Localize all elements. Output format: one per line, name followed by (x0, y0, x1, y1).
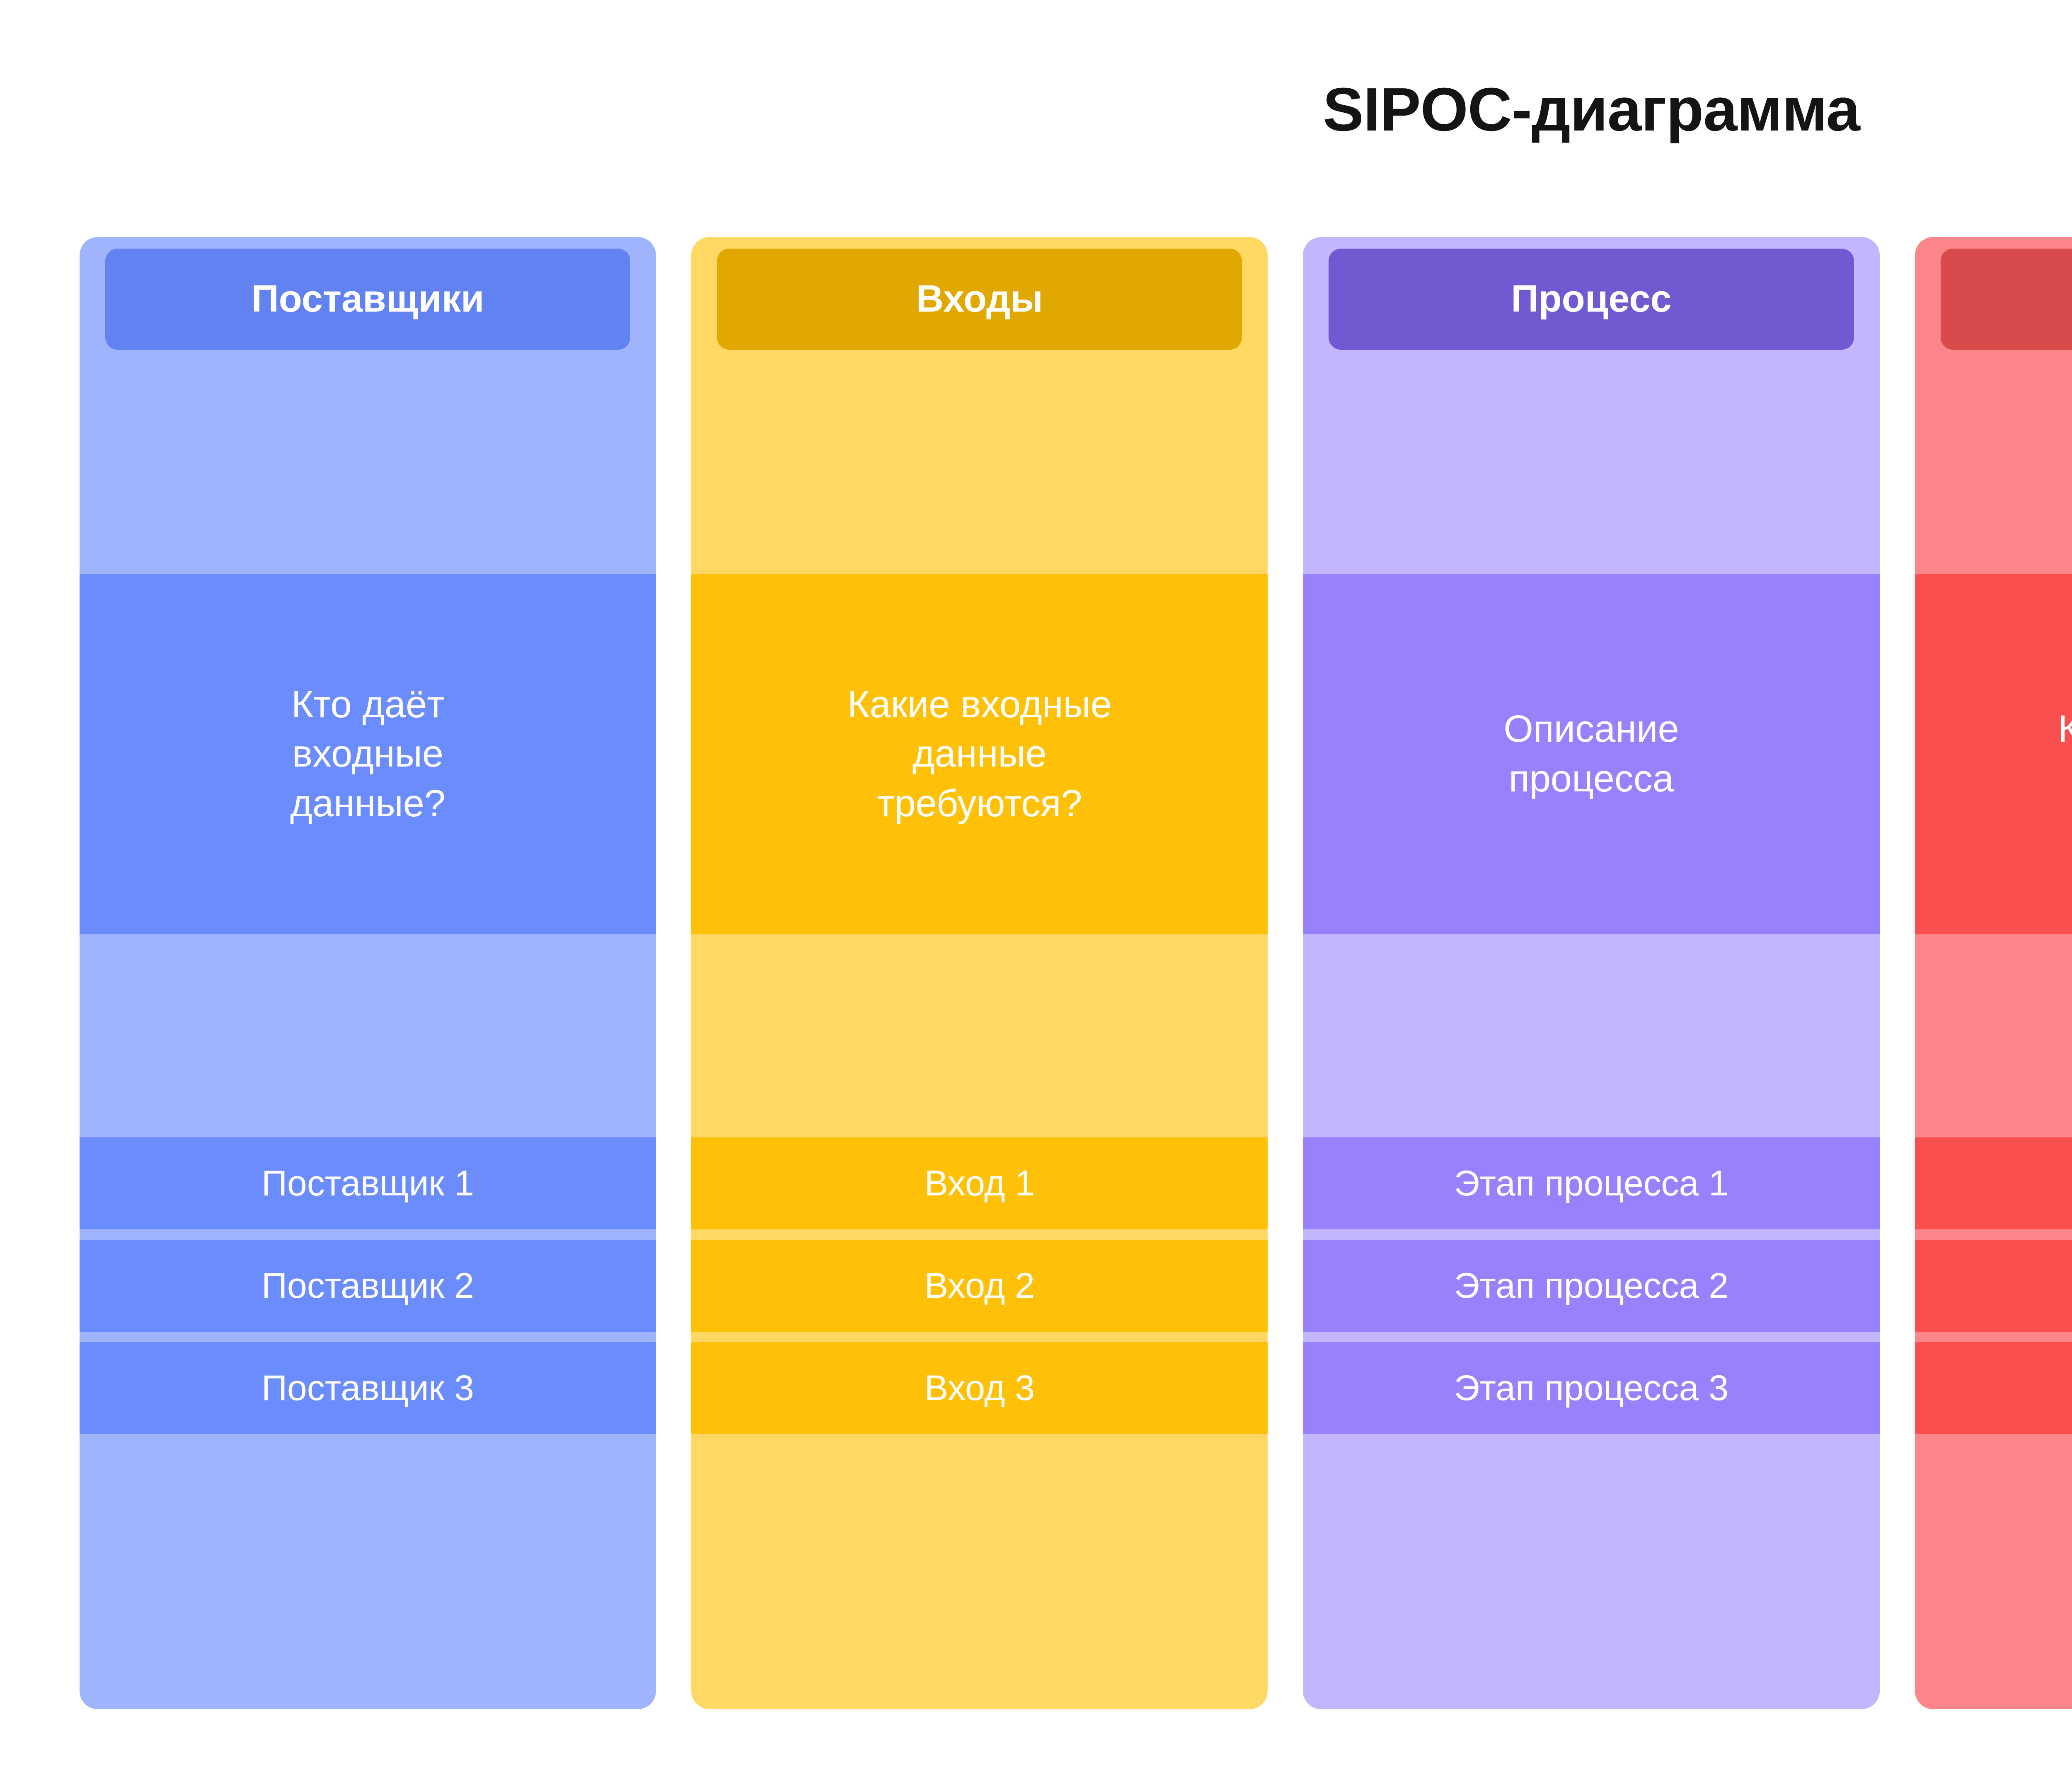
list-item-label: Поставщик 2 (261, 1266, 474, 1306)
list-item[interactable]: Поставщик 2 (80, 1240, 656, 1332)
list-item[interactable]: Результат 2 (1915, 1240, 2072, 1332)
column-header-process[interactable]: Процесс (1329, 249, 1854, 350)
column-question-label: Описание процесса (1503, 704, 1679, 803)
column-header-label: Поставщики (252, 279, 484, 319)
list-item-label: Поставщик 1 (261, 1164, 474, 1203)
list-item[interactable]: Вход 1 (691, 1137, 1268, 1229)
list-item[interactable]: Этап процесса 3 (1303, 1342, 1879, 1434)
list-item-label: Вход 1 (925, 1164, 1035, 1203)
list-item[interactable]: Вход 3 (691, 1342, 1268, 1434)
column-header-inputs[interactable]: Входы (717, 249, 1242, 350)
column-question-process: Описание процесса (1303, 574, 1879, 934)
column-question-suppliers: Кто даёт входные данные? (80, 574, 656, 934)
column-question-label: Кто даёт входные данные? (290, 680, 445, 829)
column-question-inputs: Какие входные данные требуются? (691, 574, 1268, 934)
column-header-suppliers[interactable]: Поставщики (105, 249, 630, 350)
column-header-outputs[interactable]: Производи- тельность (1941, 249, 2072, 350)
sipoc-column-inputs[interactable]: Входы Какие входные данные требуются? Вх… (691, 237, 1268, 1709)
list-item-label: Вход 3 (925, 1369, 1035, 1408)
list-item[interactable]: Результат 3 (1915, 1342, 2072, 1434)
list-item[interactable]: Вход 2 (691, 1240, 1268, 1332)
list-item-label: Этап процесса 1 (1454, 1164, 1728, 1203)
column-question-label: Какие ключевые результаты? (2058, 704, 2072, 803)
list-item[interactable]: Поставщик 1 (80, 1137, 656, 1229)
sipoc-columns: Поставщики Кто даёт входные данные? Пост… (80, 237, 2072, 1709)
list-item[interactable]: Этап процесса 1 (1303, 1137, 1879, 1229)
column-question-label: Какие входные данные требуются? (847, 680, 1112, 829)
sipoc-diagram-canvas: SIPOC-диаграмма Поставщики Кто даёт вход… (0, 0, 2072, 1790)
page-title: SIPOC-диаграмма (0, 75, 2072, 145)
column-header-label: Входы (916, 279, 1043, 319)
column-question-outputs: Какие ключевые результаты? (1915, 574, 2072, 934)
list-item-label: Этап процесса 3 (1454, 1369, 1728, 1408)
list-item[interactable]: Результат 1 (1915, 1137, 2072, 1229)
list-item[interactable]: Поставщик 3 (80, 1342, 656, 1434)
sipoc-column-outputs[interactable]: Производи- тельность Какие ключевые резу… (1915, 237, 2072, 1709)
column-header-label: Процесс (1511, 279, 1671, 319)
list-item[interactable]: Этап процесса 2 (1303, 1240, 1879, 1332)
list-item-label: Поставщик 3 (261, 1369, 474, 1408)
list-item-label: Вход 2 (925, 1266, 1035, 1306)
list-item-label: Этап процесса 2 (1454, 1266, 1728, 1306)
sipoc-column-process[interactable]: Процесс Описание процесса Этап процесса … (1303, 237, 1879, 1709)
sipoc-column-suppliers[interactable]: Поставщики Кто даёт входные данные? Пост… (80, 237, 656, 1709)
